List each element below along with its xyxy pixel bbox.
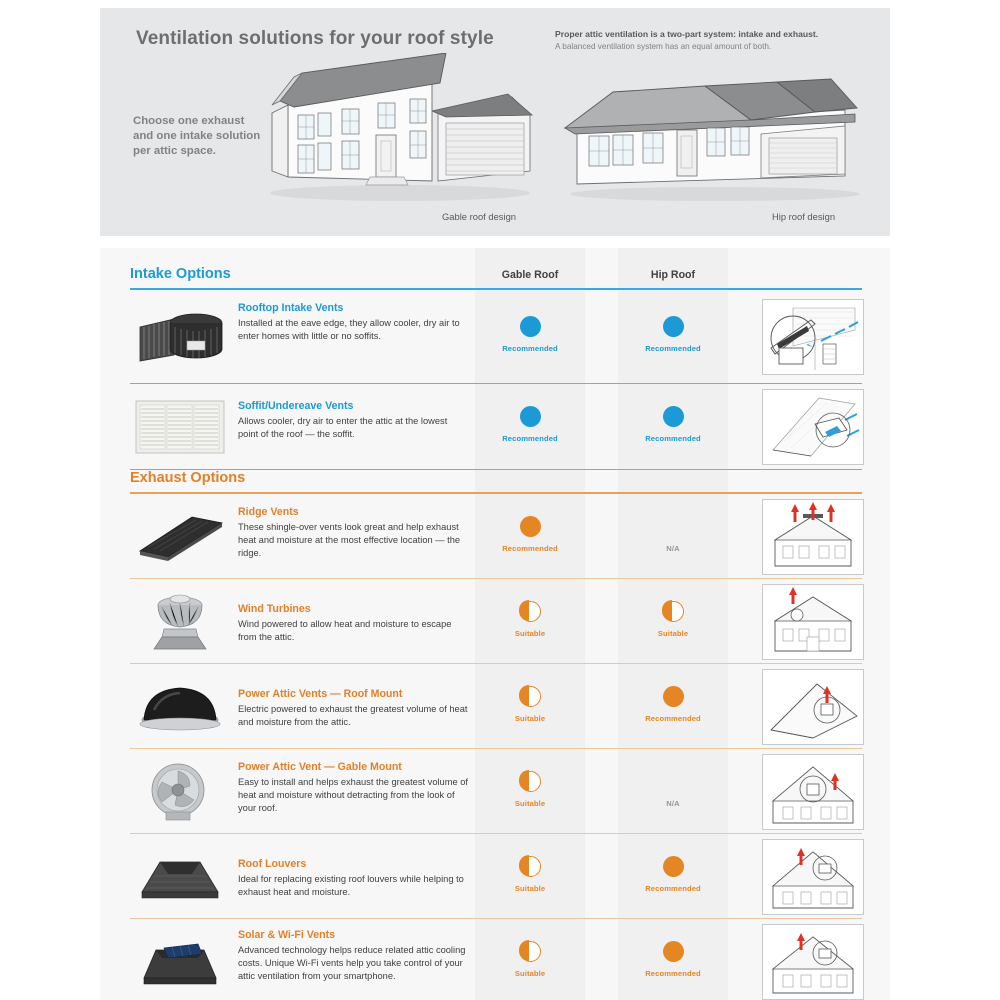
row-text: Soffit/Undereave Vents Allows cooler, dr… — [238, 400, 470, 441]
table-row: Solar & Wi-Fi Vents Advanced technology … — [100, 919, 890, 1000]
hero-note: Proper attic ventilation is a two-part s… — [555, 28, 885, 54]
option-description: Electric powered to exhaust the greatest… — [238, 703, 470, 729]
solar-wifi-vent-photo — [132, 926, 228, 998]
status-label: Recommended — [475, 544, 585, 553]
cell-hip: Recommended — [618, 856, 728, 893]
status-label: Suitable — [475, 884, 585, 893]
eave-intake-diagram — [762, 299, 864, 375]
option-name: Ridge Vents — [238, 506, 470, 520]
status-label: Recommended — [618, 434, 728, 443]
table-row: Rooftop Intake Vents Installed at the ea… — [100, 290, 890, 384]
table-row: Ridge Vents These shingle-over vents loo… — [100, 494, 890, 579]
cell-gable: Suitable — [475, 941, 585, 978]
status-label: Recommended — [475, 434, 585, 443]
page-title: Ventilation solutions for your roof styl… — [136, 28, 494, 50]
status-label: Suitable — [475, 714, 585, 723]
status-dot-suitable-icon — [520, 601, 541, 622]
column-header-gable: Gable Roof — [475, 269, 585, 281]
status-label: Recommended — [475, 344, 585, 353]
cell-gable: Recommended — [475, 516, 585, 553]
option-name: Wind Turbines — [238, 603, 470, 617]
wind-turbine-photo — [132, 586, 228, 658]
ventilation-solutions-page: Ventilation solutions for your roof styl… — [0, 0, 1000, 1000]
hip-roof-caption: Hip roof design — [772, 211, 835, 222]
status-label: Recommended — [618, 714, 728, 723]
status-dot-recommended-icon — [663, 686, 684, 707]
status-dot-recommended-icon — [663, 941, 684, 962]
option-description: Ideal for replacing existing roof louver… — [238, 873, 470, 899]
status-dot-suitable-icon — [520, 686, 541, 707]
row-text: Power Attic Vents — Roof Mount Electric … — [238, 688, 470, 729]
status-label: Suitable — [475, 969, 585, 978]
status-dot-recommended-icon — [520, 406, 541, 427]
row-text: Rooftop Intake Vents Installed at the ea… — [238, 302, 470, 343]
cell-hip: N/A — [618, 799, 728, 808]
hero-note-headline: Proper attic ventilation is a two-part s… — [555, 28, 885, 40]
cell-hip: Suitable — [618, 601, 728, 638]
cell-gable: Recommended — [475, 406, 585, 443]
power-attic-vent-gable-photo — [132, 756, 228, 828]
table-row: Power Attic Vent — Gable Mount Easy to i… — [100, 749, 890, 834]
cell-hip: Recommended — [618, 941, 728, 978]
intake-section-header: Intake Options Gable Roof Hip Roof — [130, 256, 862, 290]
cell-hip: Recommended — [618, 316, 728, 353]
option-name: Roof Louvers — [238, 858, 470, 872]
status-dot-suitable-icon — [663, 601, 684, 622]
cell-gable: Recommended — [475, 316, 585, 353]
table-row: Power Attic Vents — Roof Mount Electric … — [100, 664, 890, 749]
row-text: Wind Turbines Wind powered to allow heat… — [238, 603, 470, 644]
status-label: Recommended — [618, 969, 728, 978]
status-label: Suitable — [475, 799, 585, 808]
gable-house-illustration — [250, 53, 540, 203]
status-dot-recommended-icon — [663, 856, 684, 877]
row-text: Ridge Vents These shingle-over vents loo… — [238, 506, 470, 560]
hero-note-subline: A balanced ventilation system has an equ… — [555, 41, 885, 53]
hero-banner: Ventilation solutions for your roof styl… — [100, 8, 890, 236]
cell-gable: Suitable — [475, 856, 585, 893]
cell-gable: Suitable — [475, 686, 585, 723]
cell-gable: Suitable — [475, 601, 585, 638]
choose-instruction: Choose one exhaust and one intake soluti… — [133, 114, 265, 159]
power-gable-vent-diagram — [762, 754, 864, 830]
exhaust-section-title: Exhaust Options — [130, 470, 245, 486]
table-row: Roof Louvers Ideal for replacing existin… — [100, 834, 890, 919]
option-description: Wind powered to allow heat and moisture … — [238, 618, 470, 644]
status-label: Recommended — [618, 344, 728, 353]
cell-hip: Recommended — [618, 686, 728, 723]
option-description: Installed at the eave edge, they allow c… — [238, 317, 470, 343]
power-attic-vent-roof-photo — [132, 671, 228, 743]
column-header-hip: Hip Roof — [618, 269, 728, 281]
status-dot-suitable-icon — [520, 771, 541, 792]
status-dot-suitable-icon — [520, 941, 541, 962]
soffit-intake-diagram — [762, 389, 864, 465]
row-text: Power Attic Vent — Gable Mount Easy to i… — [238, 761, 470, 815]
ridge-vent-diagram — [762, 499, 864, 575]
status-label: N/A — [618, 799, 728, 808]
ridge-vent-photo — [132, 501, 228, 573]
status-dot-recommended-icon — [663, 406, 684, 427]
status-dot-suitable-icon — [520, 856, 541, 877]
option-name: Rooftop Intake Vents — [238, 302, 470, 316]
option-name: Soffit/Undereave Vents — [238, 400, 470, 414]
status-dot-recommended-icon — [663, 316, 684, 337]
hip-house-illustration — [555, 68, 865, 203]
status-label: N/A — [618, 544, 728, 553]
status-label: Recommended — [618, 884, 728, 893]
wind-turbine-diagram — [762, 584, 864, 660]
option-name: Power Attic Vent — Gable Mount — [238, 761, 470, 775]
power-roof-vent-diagram — [762, 669, 864, 745]
roof-louver-diagram — [762, 839, 864, 915]
option-description: Allows cooler, dry air to enter the atti… — [238, 415, 470, 441]
table-row: Wind Turbines Wind powered to allow heat… — [100, 579, 890, 664]
cell-hip: Recommended — [618, 406, 728, 443]
status-dot-recommended-icon — [520, 316, 541, 337]
cell-gable: Suitable — [475, 771, 585, 808]
cell-hip: N/A — [618, 544, 728, 553]
status-label: Suitable — [618, 629, 728, 638]
table-row: Soffit/Undereave Vents Allows cooler, dr… — [100, 384, 890, 470]
option-name: Power Attic Vents — Roof Mount — [238, 688, 470, 702]
row-text: Roof Louvers Ideal for replacing existin… — [238, 858, 470, 899]
solar-vent-diagram — [762, 924, 864, 1000]
rooftop-intake-vent-photo — [132, 301, 228, 373]
gable-roof-caption: Gable roof design — [442, 211, 516, 222]
option-description: Easy to install and helps exhaust the gr… — [238, 776, 470, 816]
roof-louver-photo — [132, 841, 228, 913]
option-description: These shingle-over vents look great and … — [238, 521, 470, 561]
status-dot-recommended-icon — [520, 516, 541, 537]
intake-section-title: Intake Options — [130, 266, 231, 282]
row-text: Solar & Wi-Fi Vents Advanced technology … — [238, 929, 470, 983]
exhaust-section-header: Exhaust Options — [130, 460, 862, 494]
status-label: Suitable — [475, 629, 585, 638]
option-description: Advanced technology helps reduce related… — [238, 944, 470, 984]
option-name: Solar & Wi-Fi Vents — [238, 929, 470, 943]
options-table: Intake Options Gable Roof Hip Roof — [100, 248, 890, 1000]
soffit-vent-photo — [132, 391, 228, 463]
